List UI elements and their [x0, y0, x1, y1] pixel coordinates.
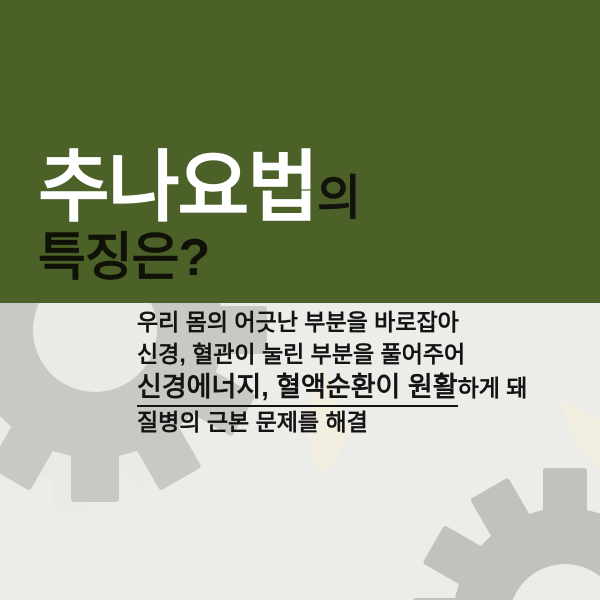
- poster-card: 추나요법의 특징은? 우리 몸의 어긋난 부분을 바로잡아 신경, 혈관이 눌린…: [0, 0, 600, 600]
- body-line-3-tail: 하게 돼: [458, 375, 528, 401]
- body-copy-block: 우리 몸의 어긋난 부분을 바로잡아 신경, 혈관이 눌린 부분을 풀어주어 신…: [137, 310, 587, 435]
- body-line-3-emphasis: 신경에너지, 혈액순환이 원활: [137, 372, 458, 407]
- headline-main-text: 추나요법: [38, 143, 317, 231]
- headline-line-2: 특징은?: [38, 232, 209, 284]
- body-line-2: 신경, 혈관이 눌린 부분을 풀어주어: [137, 342, 587, 372]
- headline-suffix-text: 의: [317, 172, 360, 225]
- body-line-3: 신경에너지, 혈액순환이 원활하게 돼: [137, 373, 587, 411]
- headline-line-1: 추나요법의: [38, 148, 360, 226]
- body-line-4: 질병의 근본 문제를 해결: [137, 410, 587, 434]
- headline-block: 추나요법의 특징은?: [0, 0, 600, 303]
- body-line-1: 우리 몸의 어긋난 부분을 바로잡아: [137, 310, 587, 342]
